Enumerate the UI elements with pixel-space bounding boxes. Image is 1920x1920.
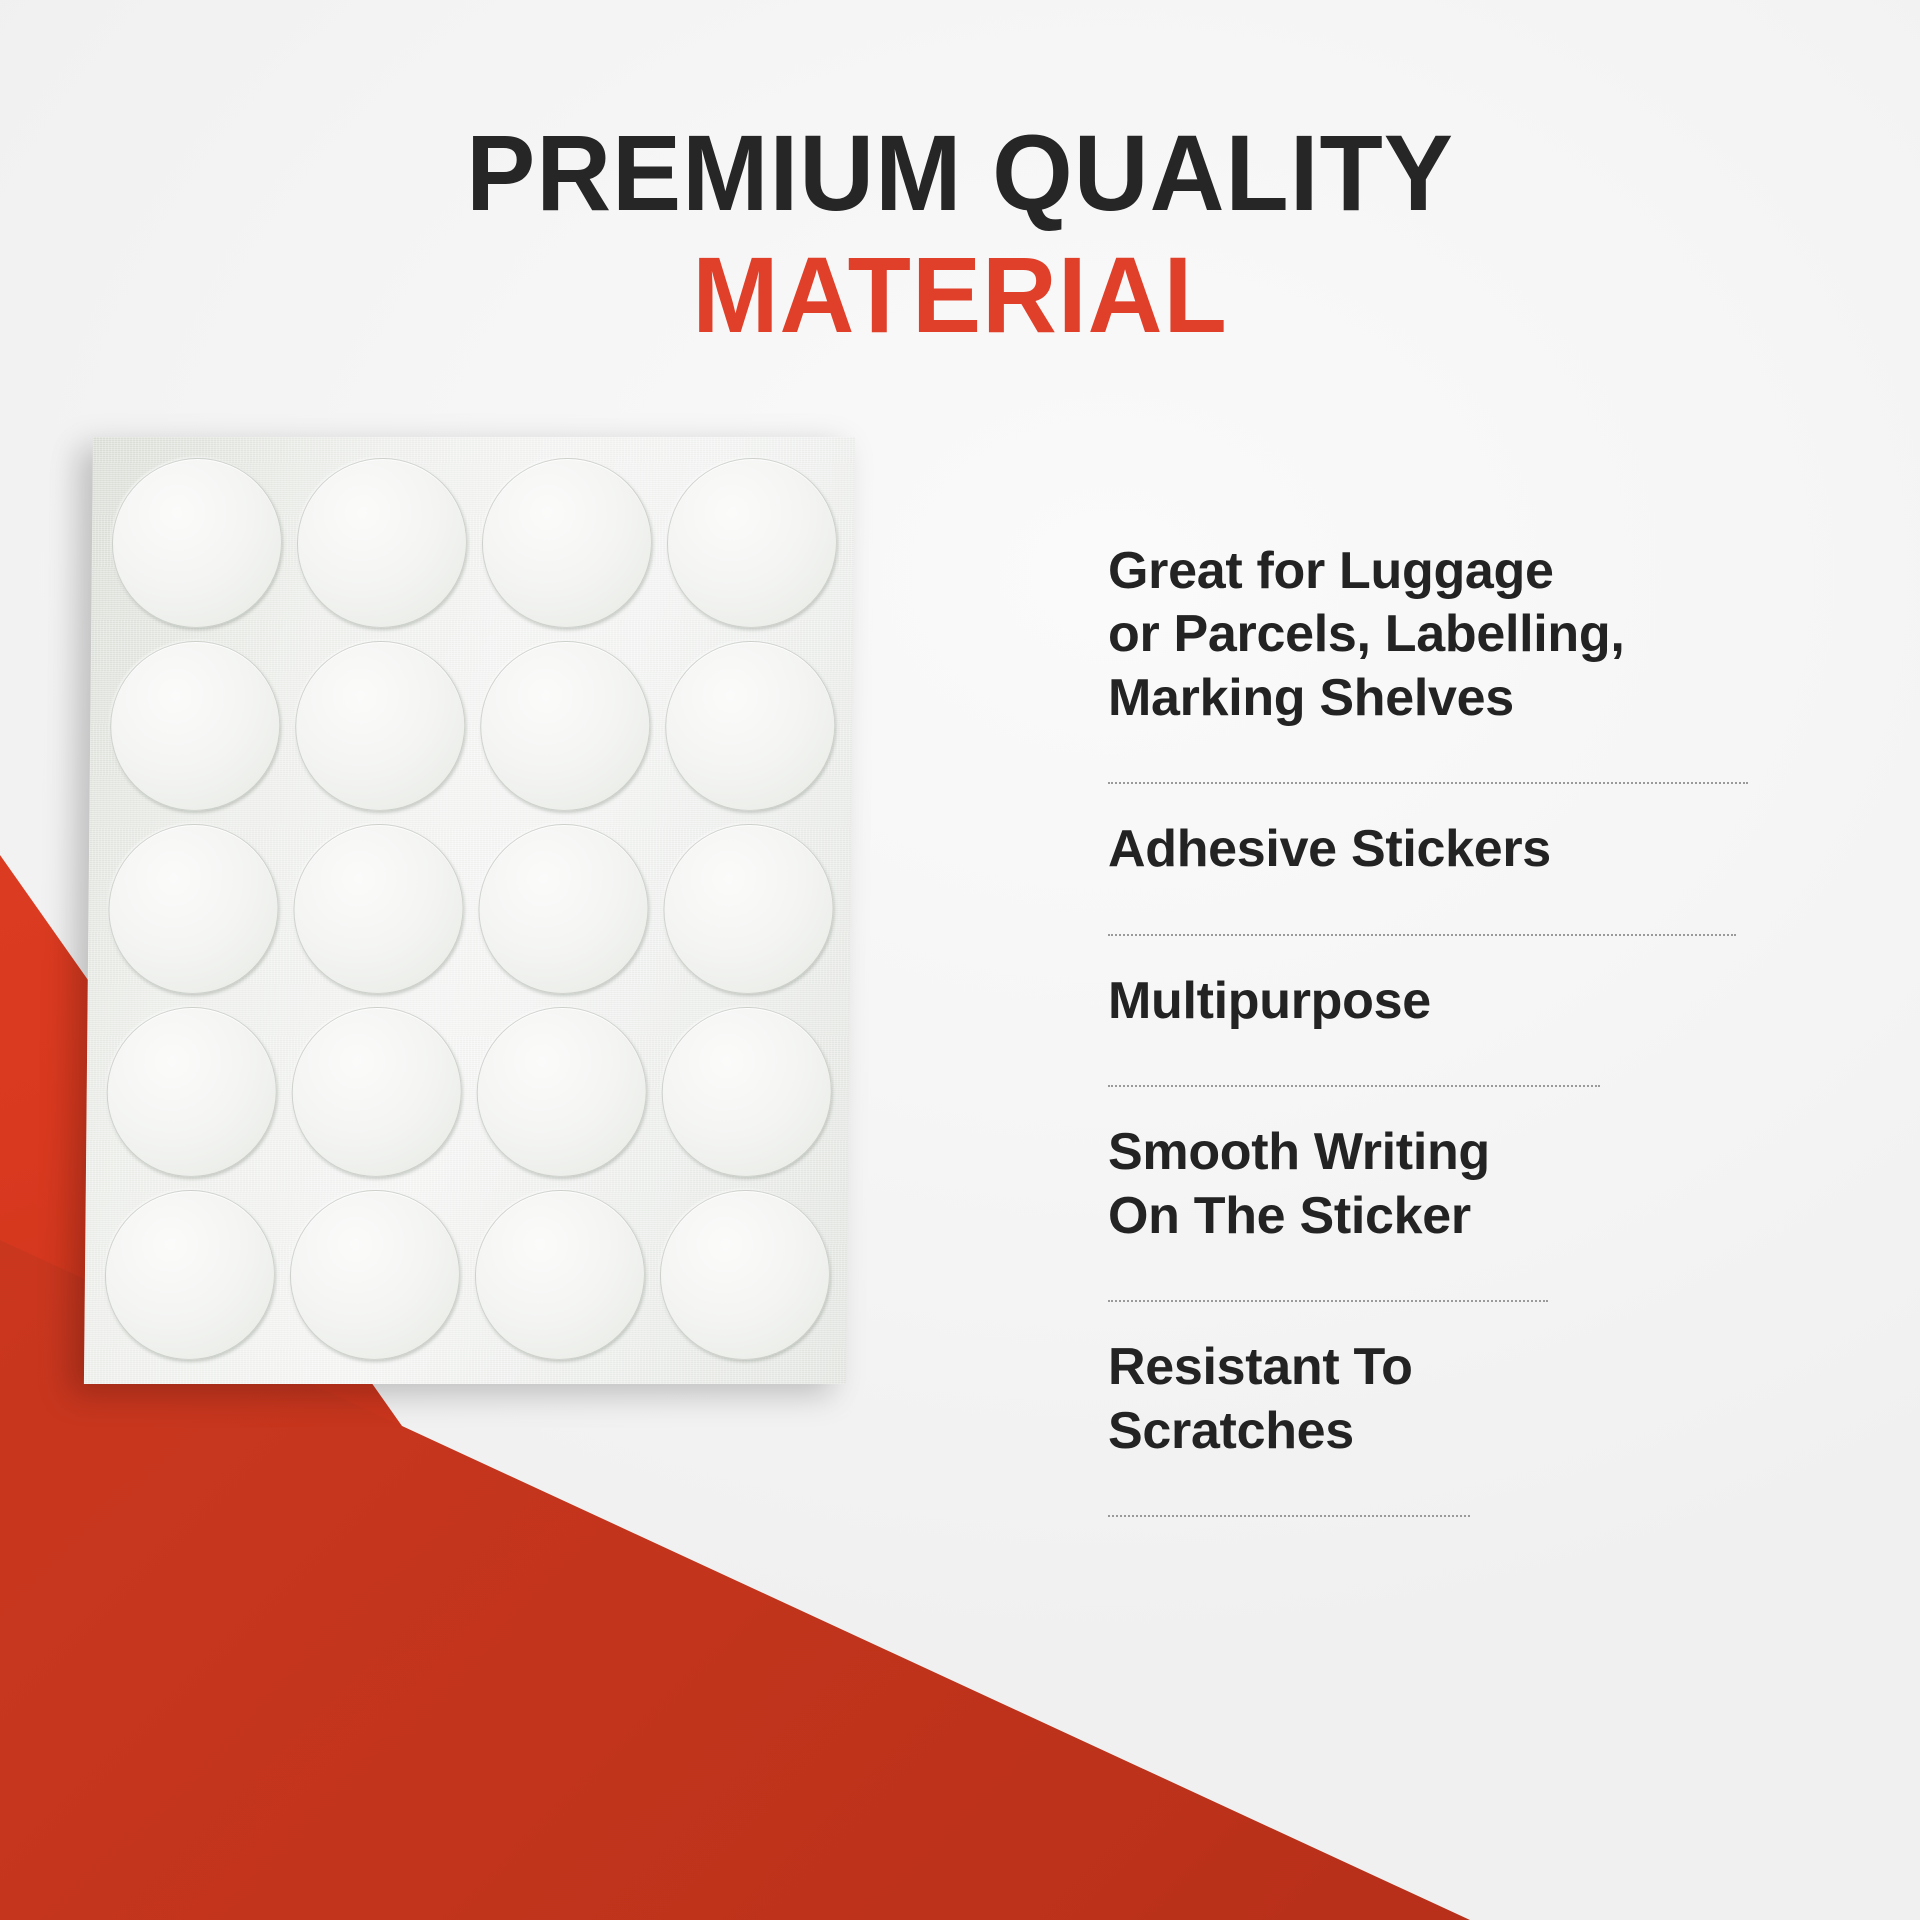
- sticker-dot: [660, 1007, 832, 1177]
- feature-divider: [1108, 1515, 1470, 1517]
- poster-canvas: PREMIUM QUALITY MATERIAL: [0, 0, 1920, 1920]
- sticker-dot: [109, 641, 281, 811]
- sticker-dot-cell: [466, 1183, 653, 1366]
- sticker-dot-cell: [286, 634, 473, 817]
- sticker-dot: [477, 824, 649, 994]
- feature-label: Adhesive Stickers: [1108, 818, 1756, 881]
- sticker-dot: [474, 1190, 646, 1360]
- feature-item-3: Multipurpose: [1108, 970, 1756, 1059]
- sticker-dot-cell: [288, 451, 475, 634]
- sticker-dot: [481, 458, 653, 628]
- sticker-dot-cell: [473, 451, 660, 634]
- sticker-dot-cell: [281, 1183, 468, 1366]
- sticker-dot-cell: [103, 451, 290, 634]
- sticker-dot: [666, 458, 838, 628]
- sticker-dot: [292, 824, 464, 994]
- sticker-dot-cell: [101, 634, 288, 817]
- sticker-dot-cell: [285, 817, 472, 1000]
- sticker-dot: [111, 458, 283, 628]
- product-image: [93, 437, 855, 1384]
- feature-divider: [1108, 934, 1736, 936]
- sticker-dot: [664, 641, 836, 811]
- title-line-primary: PREMIUM QUALITY: [38, 118, 1881, 228]
- sticker-dot: [289, 1190, 461, 1360]
- sticker-dot-cell: [283, 1000, 470, 1183]
- sticker-dot-cell: [655, 817, 842, 1000]
- feature-item-4: Smooth Writing On The Sticker: [1108, 1121, 1756, 1274]
- feature-label: Multipurpose: [1108, 970, 1756, 1033]
- feature-divider: [1108, 1085, 1600, 1087]
- sticker-dot: [479, 641, 651, 811]
- sticker-dot: [659, 1190, 831, 1360]
- page-title: PREMIUM QUALITY MATERIAL: [0, 118, 1920, 350]
- title-line-accent: MATERIAL: [38, 240, 1881, 350]
- sticker-dot-cell: [658, 451, 845, 634]
- feature-item-1: Great for Luggage or Parcels, Labelling,…: [1108, 540, 1756, 756]
- sticker-dot: [290, 1007, 462, 1177]
- feature-label: Great for Luggage or Parcels, Labelling,…: [1108, 540, 1756, 730]
- sticker-dot-cell: [471, 634, 658, 817]
- sticker-dot-cell: [96, 1183, 283, 1366]
- sticker-dot-cell: [653, 1000, 840, 1183]
- feature-label: Resistant To Scratches: [1108, 1336, 1756, 1463]
- feature-divider: [1108, 1300, 1548, 1302]
- sticker-dot: [294, 641, 466, 811]
- sticker-dot: [662, 824, 834, 994]
- feature-item-5: Resistant To Scratches: [1108, 1336, 1756, 1489]
- sticker-dot: [475, 1007, 647, 1177]
- sticker-dot-cell: [656, 634, 843, 817]
- feature-divider: [1108, 782, 1748, 784]
- sticker-dot-grid: [84, 437, 855, 1384]
- sticker-sheet: [84, 437, 855, 1384]
- sticker-dot-cell: [468, 1000, 655, 1183]
- sticker-dot: [104, 1190, 276, 1360]
- feature-item-2: Adhesive Stickers: [1108, 818, 1756, 907]
- sticker-dot: [107, 824, 279, 994]
- sticker-dot: [105, 1007, 277, 1177]
- feature-label: Smooth Writing On The Sticker: [1108, 1121, 1756, 1248]
- sticker-dot-cell: [100, 817, 287, 1000]
- sticker-dot-cell: [651, 1183, 838, 1366]
- sticker-dot-cell: [98, 1000, 285, 1183]
- sticker-dot-cell: [470, 817, 657, 1000]
- feature-list: Great for Luggage or Parcels, Labelling,…: [1108, 540, 1756, 1551]
- sticker-dot: [296, 458, 468, 628]
